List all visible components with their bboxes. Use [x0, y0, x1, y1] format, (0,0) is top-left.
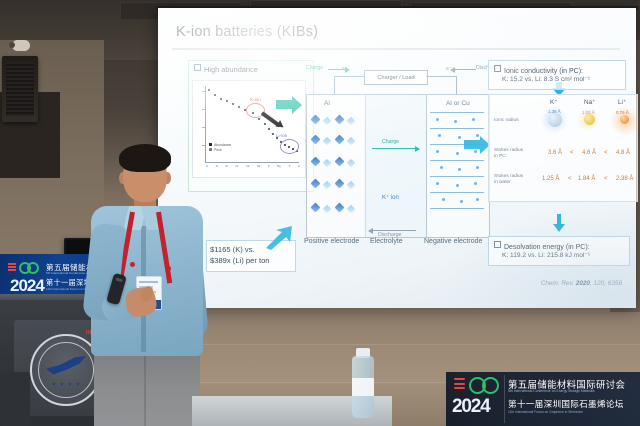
table-col-k: K⁺ [550, 98, 558, 106]
watermark-en1: 5th International Conference on Energy S… [508, 389, 595, 393]
checkbox-icon [194, 64, 201, 71]
li-stokes-water: 2.38 Å [616, 176, 633, 182]
watermark-year: 2024 [452, 396, 489, 418]
na-ionic-radius: 1.02 Å [582, 110, 595, 115]
arrow-down-teal-2 [552, 214, 566, 232]
desolvation-heading: Desolvation energy (in PC): [494, 241, 590, 251]
watermark-cn2: 第十一届深圳国际石墨烯论坛 [508, 398, 624, 410]
lapel-pin-right [166, 266, 171, 271]
charger-load-box: Charger / Load [364, 70, 428, 85]
charge-label-left: Charge [306, 65, 323, 71]
k-ionic-radius: 1.38 Å [548, 109, 561, 114]
na-stokes-water: 1.84 Å [578, 176, 595, 182]
arrow-upright-teal [264, 226, 294, 250]
table-row-header-stokes-pc: Stokes radiusin PC [494, 148, 523, 160]
ceiling-camera-icon [12, 40, 30, 51]
lapel-pin-left [130, 262, 135, 267]
speaker-hair [119, 144, 171, 172]
table-row-header-stokes-water: Stokes radiusin water [494, 174, 523, 186]
title-divider [172, 48, 620, 50]
projection-screen: K-ion batteries (KIBs) High abundance [158, 8, 636, 308]
table-col-na: Na⁺ [584, 98, 596, 106]
desolvation-value: K: 119.2 vs. Li: 215.8 kJ mol⁻¹ [502, 251, 590, 259]
screenshot-root: K-ion batteries (KIBs) High abundance [0, 0, 640, 426]
speaker-trousers [94, 348, 200, 426]
charge-label-mid: Charge [382, 139, 399, 145]
positive-electrode-label: Positive electrode [304, 238, 359, 245]
watermark-banner: 第五届储能材料国际研讨会 5th International Conferenc… [446, 372, 640, 426]
electron-label-left: e⁻ [342, 66, 348, 72]
checkbox-icon [494, 241, 501, 248]
k-ion-label: K⁺ ion [382, 194, 399, 201]
table-row-header-ionic-radius: Ionic radius [494, 118, 519, 124]
relation-3: < [568, 176, 572, 182]
negative-electrode-frame [426, 94, 490, 238]
wall-speaker [2, 56, 38, 122]
k-stokes-pc: 3.6 Å [548, 150, 562, 156]
watermark-en2: 11th International Forum on Graphene in … [508, 410, 583, 414]
na-ion-sphere [584, 114, 595, 125]
relation-4: < [604, 176, 608, 182]
electrolyte-region [364, 94, 426, 238]
arrow-right-teal-2 [464, 136, 490, 158]
k-ion-annotation: K-ion [250, 97, 261, 102]
slide-title: K-ion batteries (KIBs) [176, 24, 318, 40]
bottle-label [352, 378, 374, 396]
al-collector-label: Al [324, 100, 330, 107]
conference-logo-icon [8, 262, 38, 273]
na-stokes-pc: 4.6 Å [582, 150, 596, 156]
crest-stars-icon [52, 382, 80, 386]
k-ion-sphere [548, 113, 562, 127]
ionic-conductivity-heading: Ionic conductivity (in PC): [494, 65, 583, 75]
citation: Chem. Rev. 2020, 120, 6358 [541, 280, 622, 287]
relation-1: < [570, 150, 574, 156]
negative-electrode-label: Negative electrode [424, 238, 482, 245]
li-ionic-radius: 0.76 Å [616, 110, 629, 115]
speaker [86, 140, 226, 426]
podium-banner-year: 2024 [10, 276, 44, 296]
al-cu-collector-label: Al or Cu [446, 100, 470, 107]
electrolyte-label: Electrolyte [370, 238, 403, 245]
li-ion-sphere [620, 115, 629, 124]
relation-2: < [604, 150, 608, 156]
watermark-logo-icon [454, 376, 500, 394]
li-ion-highlight [280, 139, 299, 154]
chair [0, 372, 30, 426]
checkbox-icon [494, 65, 501, 72]
li-ion-annotation: Li-ion [276, 133, 287, 138]
k-stokes-water: 1.25 Å [542, 176, 559, 182]
li-stokes-pc: 4.8 Å [616, 150, 630, 156]
ionic-conductivity-value: K: 15.2 vs. Li: 8.3 S cm² mol⁻¹ [502, 75, 590, 83]
high-abundance-label: High abundance [194, 64, 258, 74]
arrow-right-teal-1 [276, 96, 302, 118]
table-col-li: Li⁺ [618, 98, 626, 106]
